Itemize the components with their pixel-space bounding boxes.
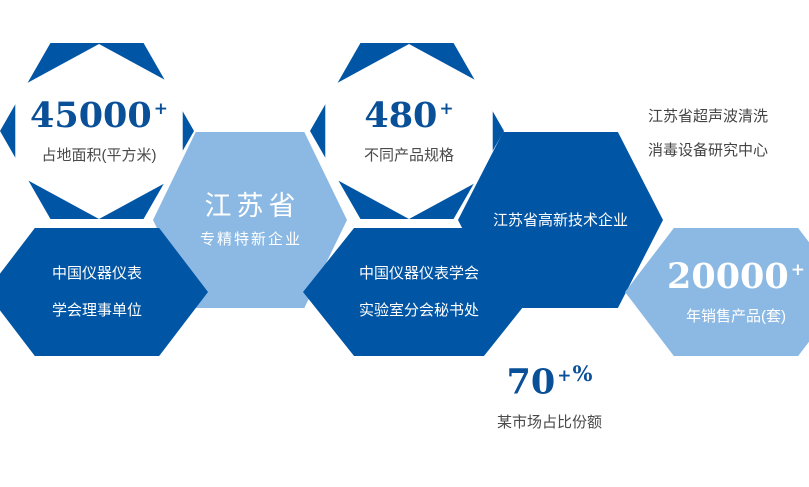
hex-annual-sales-stat[interactable]: 20000+ 年销售产品(套)	[625, 228, 809, 356]
research-center-note: 江苏省超声波清洗 消毒设备研究中心	[648, 100, 768, 168]
area-value: 45000+	[30, 98, 168, 133]
specs-value: 480+	[364, 98, 453, 133]
annual-sales-value: 20000+	[667, 259, 805, 294]
market-share-value: 70+%	[497, 363, 602, 400]
market-share-caption: 某市场占比份额	[497, 411, 602, 432]
high-tech-label: 江苏省高新技术企业	[493, 213, 628, 228]
specialized-subtitle: 专精特新企业	[198, 232, 302, 247]
market-share-stat[interactable]: 70+% 某市场占比份额	[497, 363, 602, 432]
research-center-line-2: 消毒设备研究中心	[648, 134, 768, 168]
lab-branch-line-2: 实验室分会秘书处	[359, 303, 479, 318]
lab-branch-line-1: 中国仪器仪表学会	[359, 266, 479, 281]
area-caption: 占地面积(平方米)	[42, 144, 157, 165]
instrument-society-line-2: 学会理事单位	[52, 303, 142, 318]
infographic-canvas: 45000+ 占地面积(平方米) 江苏省 专精特新企业 480+ 不同产品规格 …	[0, 0, 809, 487]
annual-sales-caption: 年销售产品(套)	[686, 305, 786, 326]
specialized-title: 江苏省	[200, 193, 301, 220]
specs-caption: 不同产品规格	[364, 144, 454, 165]
research-center-line-1: 江苏省超声波清洗	[648, 100, 768, 134]
instrument-society-line-1: 中国仪器仪表	[52, 266, 142, 281]
